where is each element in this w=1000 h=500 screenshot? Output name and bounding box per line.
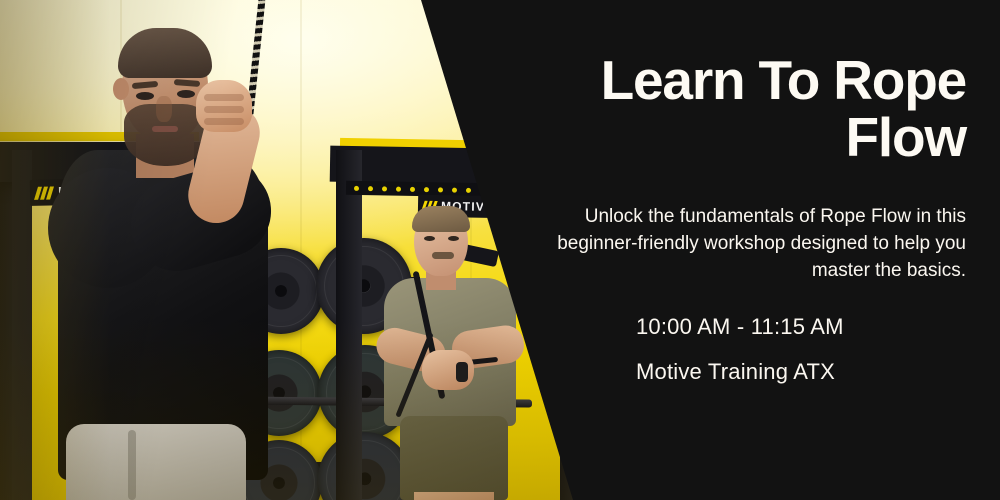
event-banner: MOTIVE MOTIVE TR bbox=[0, 0, 1000, 500]
eye bbox=[136, 92, 154, 100]
hair bbox=[412, 206, 470, 232]
moustache bbox=[432, 252, 454, 259]
info-panel-content: Learn To Rope Flow Unlock the fundamenta… bbox=[526, 0, 966, 500]
eye bbox=[424, 236, 435, 241]
event-venue: Motive Training ATX bbox=[636, 358, 835, 386]
lips bbox=[152, 126, 178, 132]
eye bbox=[448, 236, 459, 241]
eye bbox=[177, 90, 195, 98]
photo-shadow-bottom bbox=[0, 320, 600, 500]
hair bbox=[118, 28, 212, 78]
nose bbox=[156, 96, 172, 122]
event-description: Unlock the fundamentals of Rope Flow in … bbox=[526, 203, 966, 284]
hand bbox=[196, 80, 252, 132]
event-time: 10:00 AM - 11:15 AM bbox=[636, 313, 844, 341]
ear bbox=[113, 78, 129, 100]
event-title: Learn To Rope Flow bbox=[526, 52, 966, 166]
